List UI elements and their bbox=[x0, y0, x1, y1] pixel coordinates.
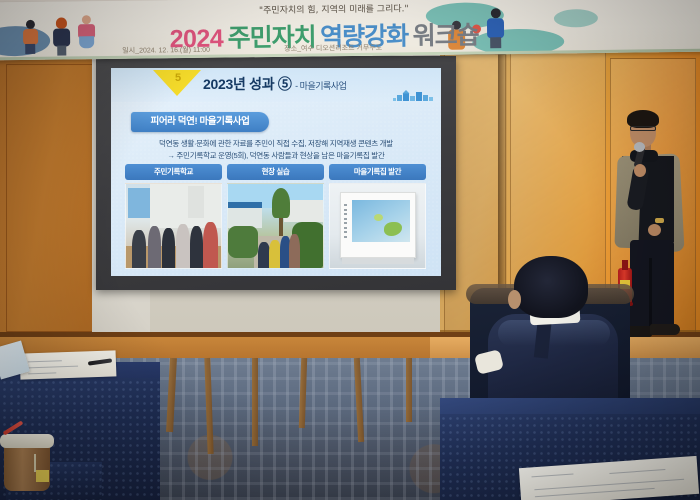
slide-title-main: 2023년 성과 ⑤ bbox=[203, 76, 292, 92]
slide-subtitle-pill: 피어라 덕연! 마을기록사업 bbox=[131, 112, 269, 132]
cup-lid bbox=[0, 434, 54, 448]
published-book-display-photo bbox=[329, 183, 426, 269]
banner-title-part-c: 워크숍 bbox=[412, 21, 478, 50]
event-banner: "주민자치의 힘, 지역의 미래를 그리다." 2024 주민자치 역량강화 워… bbox=[0, 0, 700, 60]
attendee-hair bbox=[514, 256, 588, 318]
photo-house bbox=[284, 200, 324, 222]
photo-bush bbox=[228, 226, 258, 258]
photo-tree-canopy bbox=[272, 188, 290, 218]
village-skyline-icon bbox=[393, 90, 435, 101]
presenter-leg-divide bbox=[649, 258, 652, 330]
illustrated-person-figure bbox=[78, 15, 96, 51]
extinguisher-valve bbox=[622, 260, 628, 270]
presenter-legs bbox=[630, 240, 674, 332]
presenter-hand bbox=[648, 224, 661, 236]
presenter-shoe bbox=[650, 324, 680, 335]
classroom-workshop-photo bbox=[125, 183, 222, 269]
photo-vertical-text bbox=[344, 204, 348, 240]
photo-person bbox=[132, 230, 146, 269]
presentation-slide: 5 2023년 성과 ⑤ - 마을기록사업 피어라 덕연! 마을기록사업 덕연동… bbox=[111, 68, 441, 276]
photo-person bbox=[148, 226, 161, 269]
photo-artwork bbox=[352, 200, 410, 242]
slide-subtitle-text: 피어라 덕연! 마을기록사업 bbox=[131, 112, 269, 132]
slide-column: 마을기록집 발간 bbox=[329, 164, 426, 270]
table-leg bbox=[406, 358, 412, 422]
table-leg bbox=[299, 358, 307, 428]
slide-column: 현장 실습 bbox=[227, 164, 324, 270]
photo-projector-screen bbox=[128, 188, 150, 218]
wristwatch-icon bbox=[655, 218, 664, 223]
table-leg bbox=[204, 358, 213, 454]
slide-column: 주민기록학교 bbox=[125, 164, 222, 270]
printed-handout-documents bbox=[20, 350, 117, 379]
photo-artwork-island bbox=[374, 214, 383, 221]
microphone-head-icon bbox=[634, 142, 645, 152]
presentation-room-scene: 5 2023년 성과 ⑤ - 마을기록사업 피어라 덕연! 마을기록사업 덕연동… bbox=[0, 0, 700, 500]
table-surface bbox=[440, 398, 700, 414]
cup-body bbox=[4, 445, 50, 491]
photo-wall-section bbox=[188, 186, 204, 218]
column-header: 마을기록집 발간 bbox=[329, 164, 426, 180]
projection-screen: 5 2023년 성과 ⑤ - 마을기록사업 피어라 덕연! 마을기록사업 덕연동… bbox=[96, 56, 456, 290]
table-leg bbox=[354, 358, 364, 442]
table-leg bbox=[166, 358, 177, 432]
photo-person bbox=[190, 226, 203, 269]
illustrated-person-figure bbox=[22, 20, 40, 54]
column-header: 현장 실습 bbox=[227, 164, 324, 180]
slide-title: 2023년 성과 ⑤ - 마을기록사업 bbox=[203, 74, 346, 94]
slide-body-line-2: → 주민기록학교 운영(5회), 덕연동 사람들과 현상을 남은 마을기록집 발… bbox=[123, 150, 429, 161]
slide-body-line-1: 덕연동 생활·문화에 관한 자료를 주민이 직접 수집, 저장해 지역재생 콘텐… bbox=[123, 138, 429, 149]
outdoor-alley-fieldwork-photo bbox=[227, 183, 324, 269]
teabag-tag bbox=[36, 470, 49, 482]
illustrated-person-figure bbox=[52, 17, 72, 55]
slide-title-suffix: - 마을기록사업 bbox=[295, 81, 346, 91]
presenter-hand bbox=[634, 164, 646, 177]
photo-person bbox=[176, 224, 190, 269]
seated-attendee-back-view bbox=[492, 256, 614, 406]
takeaway-cup-with-teabag bbox=[2, 428, 52, 490]
banner-cloud-shape bbox=[554, 9, 598, 28]
badge-number: 5 bbox=[171, 72, 185, 84]
column-header: 주민기록학교 bbox=[125, 164, 222, 180]
wall-panel-molding bbox=[6, 64, 98, 332]
glasses-icon bbox=[630, 126, 656, 131]
attendee-ear bbox=[508, 290, 521, 309]
photo-blue-roof bbox=[228, 202, 262, 208]
slide-columns: 주민기록학교 현장 실습 bbox=[125, 164, 427, 270]
photo-person bbox=[203, 222, 218, 269]
photo-person bbox=[289, 234, 300, 269]
photo-person bbox=[162, 228, 175, 269]
table-leg bbox=[252, 358, 258, 446]
photo-board-stand bbox=[342, 258, 414, 264]
